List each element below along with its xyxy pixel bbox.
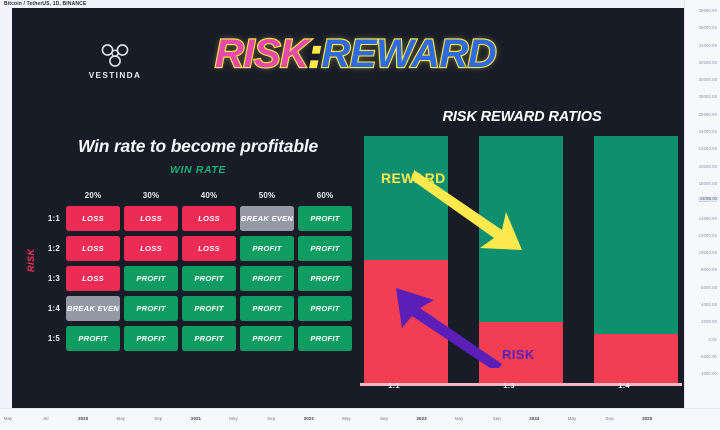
time-tick-0: May [4, 416, 13, 421]
price-tick-6: 26000.00 [685, 113, 720, 117]
brand-name: VESTINDA [84, 71, 146, 80]
time-tick-11: 2023 [417, 416, 427, 421]
bar-1-4[interactable] [594, 136, 678, 384]
matrix-cell-2-4[interactable]: PROFIT [298, 266, 352, 291]
bar-segment-risk-2 [594, 334, 678, 384]
risk-axis-label: RISK [26, 248, 36, 272]
price-tick-13: 12000.00 [685, 234, 720, 238]
winrate-caption: WIN RATE [48, 164, 348, 176]
price-tick-4: 30000.00 [685, 78, 720, 82]
matrix-cell-1-3[interactable]: PROFIT [240, 236, 294, 261]
price-tick-3: 32000.00 [685, 61, 720, 65]
matrix-cell-4-4[interactable]: PROFIT [298, 326, 352, 351]
yellow-arrow-down-right-icon [410, 164, 528, 265]
time-tick-17: 2025 [642, 416, 652, 421]
time-tick-12: May [455, 416, 464, 421]
infographic-canvas: VESTINDA RISK:REWARD Win rate to become … [12, 8, 684, 408]
matrix-row-header-3: 1:4 [40, 296, 62, 321]
matrix-cell-1-1[interactable]: LOSS [124, 236, 178, 261]
price-tick-12: 14000.00 [685, 217, 720, 221]
price-tick-16: 6000.00 [685, 286, 720, 290]
time-tick-1: Jul [43, 416, 49, 421]
bar-segment-reward-2 [594, 136, 678, 334]
matrix-cell-1-2[interactable]: LOSS [182, 236, 236, 261]
time-tick-4: Sep [154, 416, 162, 421]
matrix-cell-4-1[interactable]: PROFIT [124, 326, 178, 351]
matrix-cell-1-0[interactable]: LOSS [66, 236, 120, 261]
matrix-cell-0-3[interactable]: BREAK EVEN [240, 206, 294, 231]
matrix-cell-3-2[interactable]: PROFIT [182, 296, 236, 321]
price-tick-14: 10000.00 [685, 251, 720, 255]
time-axis[interactable]: MayJul2020MaySep2021MaySep2022MaySep2023… [0, 408, 720, 430]
price-tick-0: 38000.00 [685, 9, 720, 13]
matrix-cell-0-0[interactable]: LOSS [66, 206, 120, 231]
matrix-column-header-1: 30% [124, 191, 178, 201]
matrix-row: 1:1LOSSLOSSLOSSBREAK EVENPROFIT [40, 206, 352, 231]
tradingview-symbol-label: Bitcoin / TetherUS, 1D, BINANCE [4, 1, 86, 7]
screenshot-root: Bitcoin / TetherUS, 1D, BINANCE 38000.00… [0, 0, 720, 430]
matrix-row-header-2: 1:3 [40, 266, 62, 291]
matrix-column-header-4: 60% [298, 191, 352, 201]
price-tick-8: 22000.00 [685, 147, 720, 151]
matrix-row: 1:3LOSSPROFITPROFITPROFITPROFIT [40, 266, 352, 291]
price-tick-20: -2000.00 [685, 355, 720, 359]
price-tick-1: 36000.00 [685, 26, 720, 30]
matrix-cell-2-3[interactable]: PROFIT [240, 266, 294, 291]
time-tick-6: May [229, 416, 238, 421]
matrix-cell-0-1[interactable]: LOSS [124, 206, 178, 231]
matrix-cell-0-4[interactable]: PROFIT [298, 206, 352, 231]
brand-block: VESTINDA [84, 44, 146, 80]
winrate-matrix-table: 20%30%40%50%60% 1:1LOSSLOSSLOSSBREAK EVE… [36, 186, 356, 356]
last-price-badge: 44056.00 [698, 196, 719, 201]
time-tick-8: 2022 [304, 416, 314, 421]
risk-annotation-label: RISK [502, 347, 535, 362]
left-panel-heading: Win rate to become profitable [48, 136, 348, 157]
page-title: RISK:REWARD [215, 34, 496, 74]
chart-title: RISK REWARD RATIOS [372, 109, 672, 125]
xtick-2: 1:4 [618, 381, 630, 390]
title-risk-word: RISK [215, 32, 309, 76]
time-tick-15: May [568, 416, 577, 421]
matrix-row-header-0: 1:1 [40, 206, 62, 231]
time-tick-2: 2020 [78, 416, 88, 421]
matrix-row: 1:5PROFITPROFITPROFITPROFITPROFIT [40, 326, 352, 351]
matrix-cell-4-2[interactable]: PROFIT [182, 326, 236, 351]
title-colon: : [309, 32, 322, 76]
time-tick-13: Sep [493, 416, 501, 421]
price-tick-19: 0.00 [685, 338, 720, 342]
time-tick-10: Sep [380, 416, 388, 421]
matrix-cell-3-1[interactable]: PROFIT [124, 296, 178, 321]
matrix-column-header-0: 20% [66, 191, 120, 201]
matrix-cell-2-2[interactable]: PROFIT [182, 266, 236, 291]
price-tick-2: 34000.00 [685, 44, 720, 48]
purple-arrow-up-left-icon [394, 284, 506, 373]
vestinda-triangle-logo-icon [84, 44, 146, 68]
time-tick-5: 2021 [191, 416, 201, 421]
matrix-cell-2-0[interactable]: LOSS [66, 266, 120, 291]
matrix-row: 1:2LOSSLOSSLOSSPROFITPROFIT [40, 236, 352, 261]
matrix-cell-4-0[interactable]: PROFIT [66, 326, 120, 351]
matrix-cell-3-0[interactable]: BREAK EVEN [66, 296, 120, 321]
matrix-row-header-1: 1:2 [40, 236, 62, 261]
matrix-cell-3-4[interactable]: PROFIT [298, 296, 352, 321]
matrix-cell-0-2[interactable]: LOSS [182, 206, 236, 231]
time-tick-16: Sep [606, 416, 614, 421]
time-tick-7: Sep [267, 416, 275, 421]
matrix-row-header-4: 1:5 [40, 326, 62, 351]
matrix-cell-3-3[interactable]: PROFIT [240, 296, 294, 321]
price-tick-9: 20000.00 [685, 165, 720, 169]
matrix-cell-2-1[interactable]: PROFIT [124, 266, 178, 291]
matrix-row: 1:4BREAK EVENPROFITPROFITPROFITPROFIT [40, 296, 352, 321]
matrix-cell-1-4[interactable]: PROFIT [298, 236, 352, 261]
matrix-corner-cell [40, 191, 62, 201]
price-tick-17: 4000.00 [685, 303, 720, 307]
price-tick-18: 2000.00 [685, 320, 720, 324]
time-tick-14: 2024 [529, 416, 539, 421]
matrix-column-header-2: 40% [182, 191, 236, 201]
xtick-0: 1:1 [388, 381, 400, 390]
time-tick-9: May [342, 416, 351, 421]
price-tick-10: 18000.00 [685, 182, 720, 186]
price-tick-7: 24000.00 [685, 130, 720, 134]
price-tick-5: 28000.00 [685, 95, 720, 99]
price-tick-15: 8000.00 [685, 268, 720, 272]
xtick-1: 1:3 [503, 381, 515, 390]
chart-baseline [360, 383, 682, 386]
matrix-column-header-3: 50% [240, 191, 294, 201]
price-tick-21: -4000.00 [685, 372, 720, 376]
matrix-cell-4-3[interactable]: PROFIT [240, 326, 294, 351]
time-tick-3: May [116, 416, 125, 421]
price-axis[interactable]: 38000.0036000.0034000.0032000.0030000.00… [684, 0, 720, 408]
title-reward-word: REWARD [321, 32, 496, 76]
